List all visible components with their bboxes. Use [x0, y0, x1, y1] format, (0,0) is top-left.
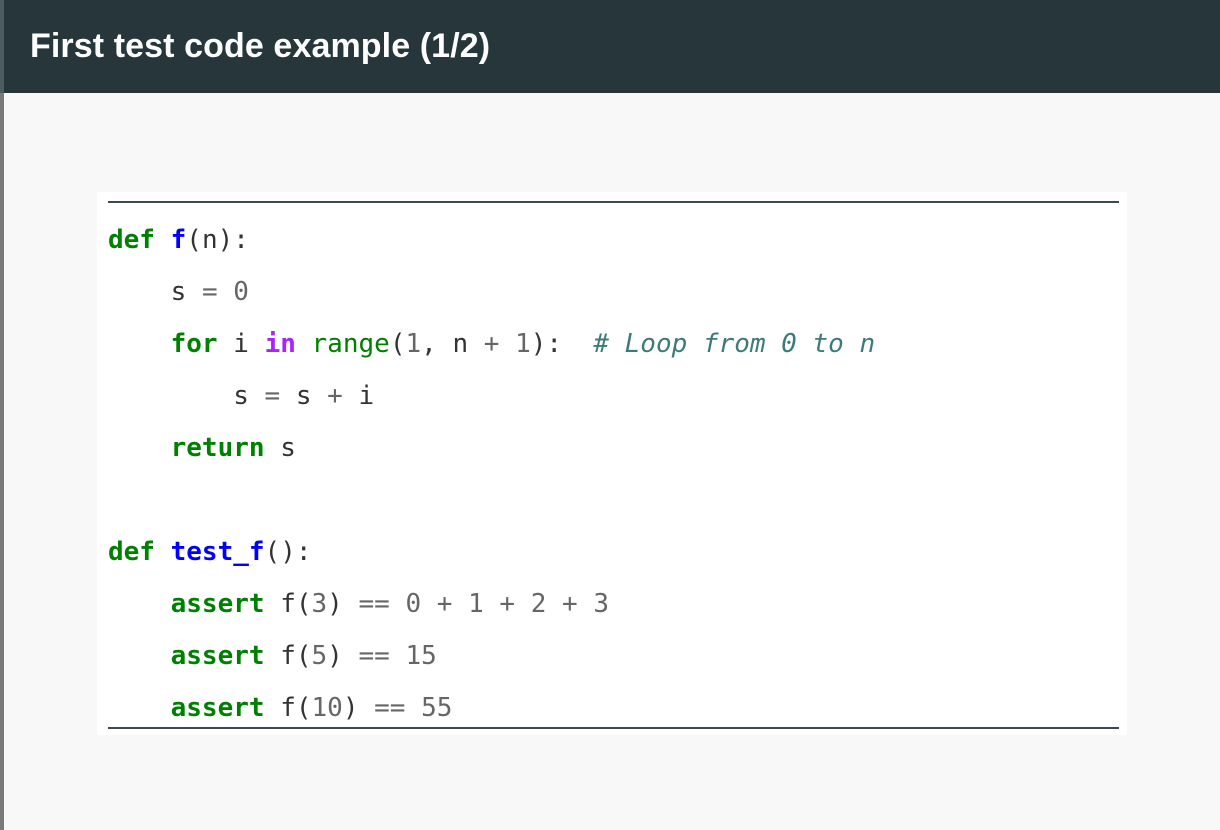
code-token: n	[202, 225, 218, 255]
code-token	[499, 329, 515, 359]
code-token: s	[171, 277, 187, 307]
code-block-top-rule	[108, 201, 1119, 203]
code-line: assert f(3) == 0 + 1 + 2 + 3	[108, 578, 1119, 630]
code-token	[390, 641, 406, 671]
code-token	[343, 641, 359, 671]
code-token: (	[296, 589, 312, 619]
code-token: ==	[358, 589, 389, 619]
code-token: (	[186, 225, 202, 255]
code-token: (	[296, 641, 312, 671]
code-token	[186, 277, 202, 307]
code-token: +	[437, 589, 453, 619]
code-token: n	[452, 329, 468, 359]
code-token: assert	[171, 693, 265, 723]
code-token	[108, 433, 171, 463]
code-line: def test_f():	[108, 526, 1119, 578]
code-token: +	[499, 589, 515, 619]
code-token: s	[296, 381, 312, 411]
code-token	[405, 693, 421, 723]
code-token	[562, 329, 593, 359]
code-token: ,	[421, 329, 452, 359]
code-token	[249, 329, 265, 359]
code-token: 1	[405, 329, 421, 359]
code-line: def f(n):	[108, 214, 1119, 266]
code-token: def	[108, 225, 155, 255]
slide-title: First test code example (1/2)	[30, 27, 490, 66]
code-token: ():	[265, 537, 312, 567]
code-token: 2	[531, 589, 547, 619]
code-token: 15	[405, 641, 436, 671]
code-token: 5	[312, 641, 328, 671]
code-token	[155, 537, 171, 567]
code-token: 0	[405, 589, 421, 619]
code-token: s	[280, 433, 296, 463]
code-token	[155, 225, 171, 255]
code-token: =	[202, 277, 218, 307]
code-token	[484, 589, 500, 619]
code-token	[265, 433, 281, 463]
code-token: (	[390, 329, 406, 359]
code-token	[515, 589, 531, 619]
code-token: ==	[374, 693, 405, 723]
code-token	[468, 329, 484, 359]
code-token: test_f	[171, 537, 265, 567]
code-token	[265, 693, 281, 723]
code-token: i	[358, 381, 374, 411]
code-token	[108, 641, 171, 671]
code-listing: def f(n): s = 0 for i in range(1, n + 1)…	[108, 214, 1119, 734]
code-token: +	[484, 329, 500, 359]
code-token	[343, 381, 359, 411]
code-block-bottom-rule	[108, 727, 1119, 729]
code-token: return	[171, 433, 265, 463]
code-token	[280, 381, 296, 411]
slide-content: def f(n): s = 0 for i in range(1, n + 1)…	[4, 93, 1220, 830]
code-token: # Loop from 0 to n	[593, 329, 875, 359]
code-line: for i in range(1, n + 1): # Loop from 0 …	[108, 318, 1119, 370]
code-token: =	[265, 381, 281, 411]
code-token: 10	[312, 693, 343, 723]
code-line	[108, 474, 1119, 526]
code-token: ):	[531, 329, 562, 359]
code-token: f	[280, 641, 296, 671]
code-token: +	[562, 589, 578, 619]
code-token	[108, 589, 171, 619]
code-token	[108, 381, 233, 411]
code-line: assert f(5) == 15	[108, 630, 1119, 682]
code-token: assert	[171, 641, 265, 671]
code-token: (	[296, 693, 312, 723]
code-token: in	[265, 329, 296, 359]
code-token: f	[280, 693, 296, 723]
code-token: 3	[312, 589, 328, 619]
code-token: def	[108, 537, 155, 567]
code-token: 0	[233, 277, 249, 307]
code-token	[108, 329, 171, 359]
code-token: )	[343, 693, 359, 723]
code-token: )	[327, 641, 343, 671]
code-token: ==	[358, 641, 389, 671]
code-token	[546, 589, 562, 619]
code-token: range	[312, 329, 390, 359]
code-token	[265, 589, 281, 619]
code-line: s = 0	[108, 266, 1119, 318]
code-token: )	[327, 589, 343, 619]
code-token	[108, 485, 124, 515]
code-token: for	[171, 329, 218, 359]
code-token	[421, 589, 437, 619]
code-line: return s	[108, 422, 1119, 474]
presentation-slide: First test code example (1/2) def f(n): …	[0, 0, 1220, 830]
code-token	[358, 693, 374, 723]
code-token: 1	[468, 589, 484, 619]
code-token	[108, 277, 171, 307]
code-line: s = s + i	[108, 370, 1119, 422]
code-token: assert	[171, 589, 265, 619]
code-token: i	[233, 329, 249, 359]
title-bar-accent	[0, 0, 4, 93]
code-token: f	[171, 225, 187, 255]
code-token	[343, 589, 359, 619]
code-token	[218, 329, 234, 359]
code-token: 3	[593, 589, 609, 619]
code-block: def f(n): s = 0 for i in range(1, n + 1)…	[97, 192, 1127, 735]
slide-title-bar: First test code example (1/2)	[0, 0, 1220, 93]
code-token: 55	[421, 693, 452, 723]
code-token	[249, 381, 265, 411]
code-token	[296, 329, 312, 359]
code-token	[452, 589, 468, 619]
code-token	[390, 589, 406, 619]
code-token: +	[327, 381, 343, 411]
code-token: f	[280, 589, 296, 619]
code-token	[265, 641, 281, 671]
code-token: s	[233, 381, 249, 411]
code-token	[218, 277, 234, 307]
code-token: ):	[218, 225, 249, 255]
code-token	[108, 693, 171, 723]
code-token	[312, 381, 328, 411]
code-token	[578, 589, 594, 619]
code-token: 1	[515, 329, 531, 359]
